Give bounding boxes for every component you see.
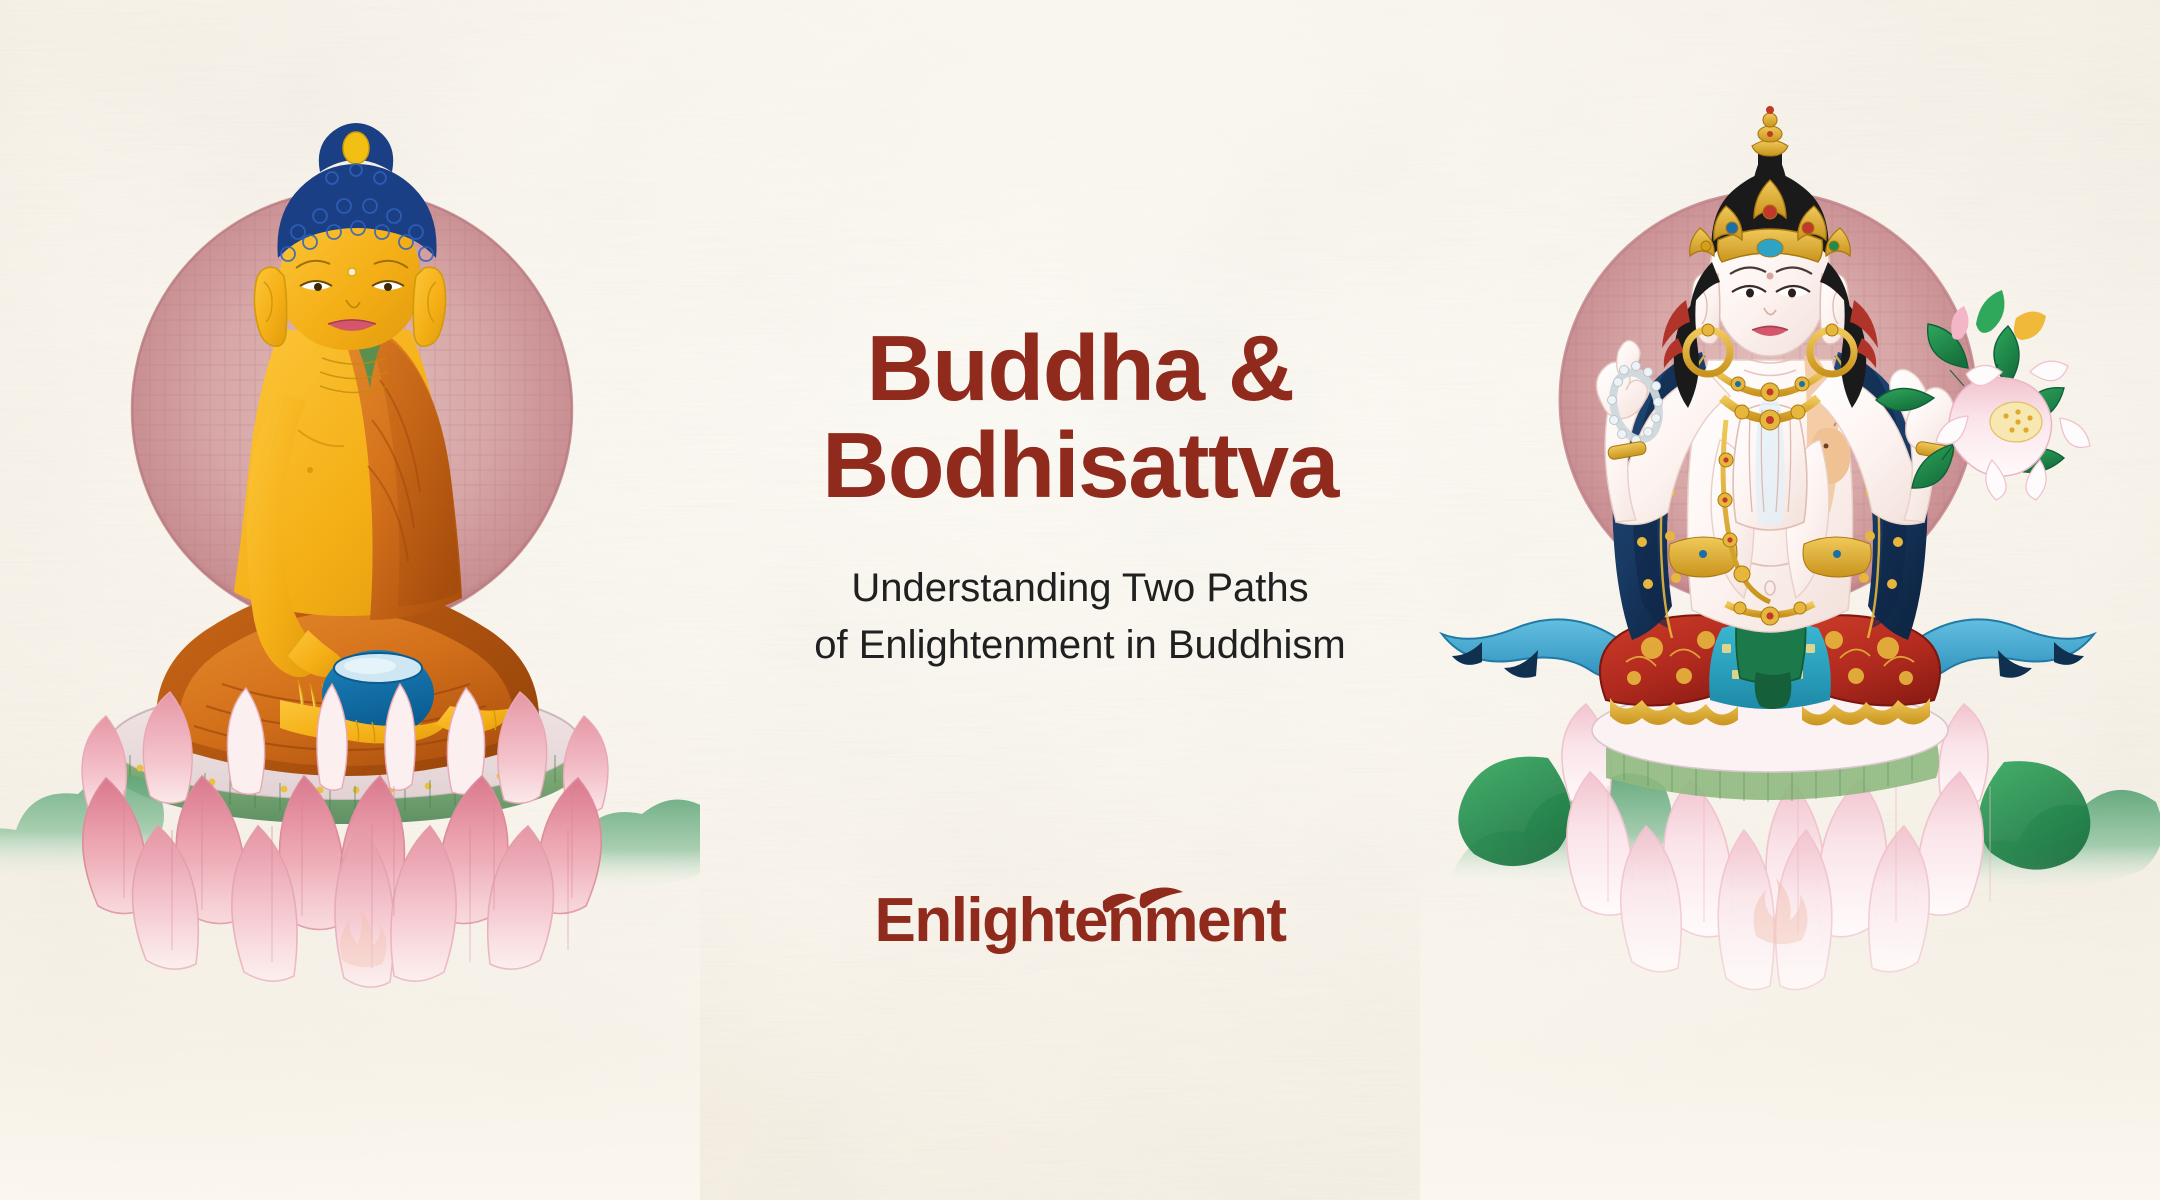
title-block: Buddha & Bodhisattva Understanding Two P…: [700, 0, 1460, 1200]
wordmark-svg: Enlightenment: [845, 875, 1315, 965]
title-line-1: Buddha &: [866, 316, 1293, 420]
brand-wordmark: Enlightenment: [700, 875, 1460, 965]
subtitle-line-1: Understanding Two Paths: [851, 566, 1308, 610]
page-subtitle: Understanding Two Paths of Enlightenment…: [700, 560, 1460, 674]
subtitle-line-2: of Enlightenment in Buddhism: [700, 617, 1460, 674]
wordmark-text: Enlightenment: [874, 886, 1286, 955]
title-line-2: Bodhisattva: [700, 417, 1460, 514]
slide-canvas: Buddha & Bodhisattva Understanding Two P…: [0, 0, 2160, 1200]
bodhisattva-figure: [1420, 0, 2160, 1200]
buddha-figure: [0, 0, 700, 1200]
jeweled-crown: [1690, 106, 1851, 262]
page-title: Buddha & Bodhisattva: [700, 320, 1460, 513]
